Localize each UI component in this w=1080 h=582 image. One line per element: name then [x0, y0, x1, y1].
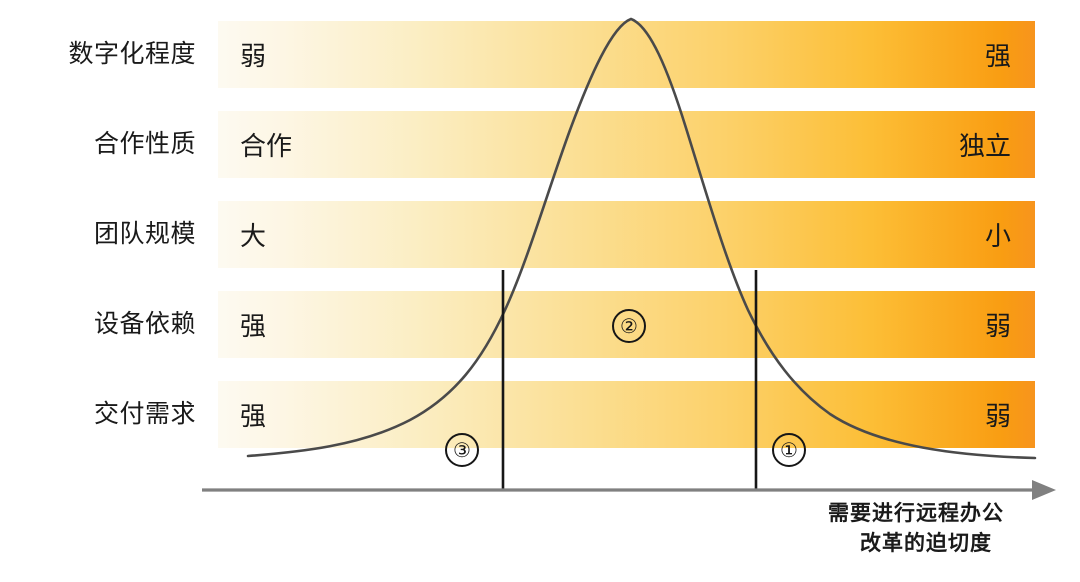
criteria-bar-digitalization: 弱 强 [218, 21, 1035, 88]
bar-right-value: 小 [985, 201, 1011, 268]
row-label-equipment-dependency: 设备依赖 [0, 312, 196, 337]
marker-2: ② [612, 309, 646, 343]
criteria-bar-collaboration: 合作 独立 [218, 111, 1035, 178]
marker-1: ① [772, 433, 806, 467]
row-label-delivery-demand: 交付需求 [0, 402, 196, 427]
bar-left-value: 合作 [240, 111, 292, 178]
diagram-canvas: 弱 强 合作 独立 大 小 强 弱 强 弱 数字化程度 合作性质 团队规模 设备… [0, 0, 1080, 582]
marker-3: ③ [445, 433, 479, 467]
x-axis-caption-line2: 改革的迫切度 [828, 530, 1024, 557]
bar-right-value: 独立 [959, 111, 1011, 178]
bar-left-value: 强 [240, 291, 266, 358]
bar-left-value: 大 [240, 201, 266, 268]
bar-left-value: 强 [240, 381, 266, 448]
row-label-collaboration: 合作性质 [0, 132, 196, 157]
x-axis-caption-line1: 需要进行远程办公 [828, 500, 1004, 527]
bar-left-value: 弱 [240, 21, 266, 88]
criteria-bar-delivery-demand: 强 弱 [218, 381, 1035, 448]
bar-right-value: 强 [985, 21, 1011, 88]
criteria-bar-team-size: 大 小 [218, 201, 1035, 268]
bar-right-value: 弱 [985, 381, 1011, 448]
x-axis-arrow-icon [1032, 480, 1056, 500]
bar-right-value: 弱 [985, 291, 1011, 358]
row-label-team-size: 团队规模 [0, 222, 196, 247]
row-label-digitalization: 数字化程度 [0, 42, 196, 67]
